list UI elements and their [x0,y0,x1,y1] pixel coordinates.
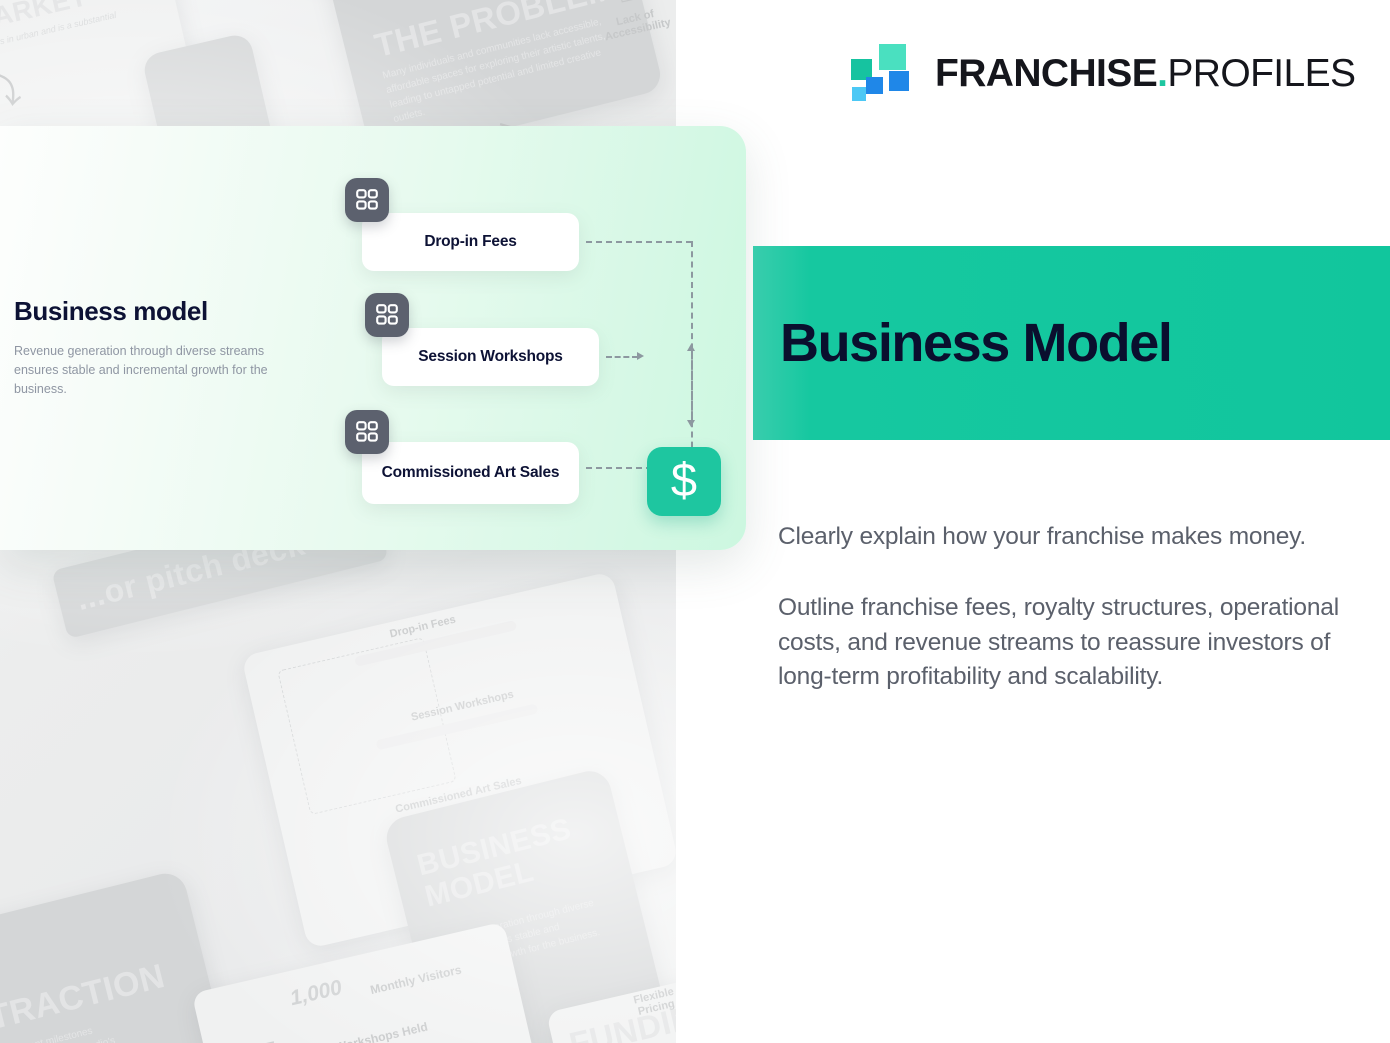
grid-icon [345,410,389,454]
section-title-banner: Business Model [753,246,1390,440]
arrowhead-up-icon [687,344,695,351]
description-paragraph-2: Outline franchise fees, royalty structur… [778,591,1350,695]
arrowhead-right-icon [637,352,644,360]
logo-word-profiles: PROFILES [1167,52,1355,95]
dollar-sign-icon: $ [671,456,697,503]
slide-card-description: Revenue generation through diverse strea… [14,342,306,398]
logo-mark-squares [851,43,909,103]
section-description: Clearly explain how your franchise makes… [778,520,1350,695]
revenue-node-drop-in-fees[interactable]: Drop-in Fees [362,213,579,271]
connector-top-horizontal [586,241,692,243]
logo-square-blue [889,71,909,91]
connector-middle-horizontal [606,356,638,358]
page-title: Business Model [780,316,1172,370]
revenue-node-label: Drop-in Fees [424,233,516,251]
revenue-node-session-workshops[interactable]: Session Workshops [382,328,599,386]
slide-canvas: MARKET spaces in urban and is a substant… [0,0,1390,1043]
brand-logo[interactable]: FRANCHISE.PROFILES [851,43,1355,103]
slide-card-header: Business model Revenue generation throug… [14,296,324,398]
logo-word-franchise: FRANCHISE [935,52,1157,95]
logo-square-mint [879,44,906,70]
grid-icon [345,178,389,222]
business-model-slide-card: Business model Revenue generation throug… [0,126,746,550]
slide-card-title: Business model [14,296,324,327]
logo-dot: . [1157,52,1167,95]
description-paragraph-1: Clearly explain how your franchise makes… [778,520,1350,555]
logo-square-blue-small [866,77,883,94]
logo-square-cyan [852,87,866,101]
grid-icon [365,293,409,337]
logo-wordmark: FRANCHISE.PROFILES [935,54,1355,93]
revenue-node-label: Commissioned Art Sales [382,464,560,483]
revenue-money-tile[interactable]: $ [647,447,721,516]
revenue-node-commissioned-art-sales[interactable]: Commissioned Art Sales [362,442,579,504]
revenue-node-label: Session Workshops [418,348,562,366]
